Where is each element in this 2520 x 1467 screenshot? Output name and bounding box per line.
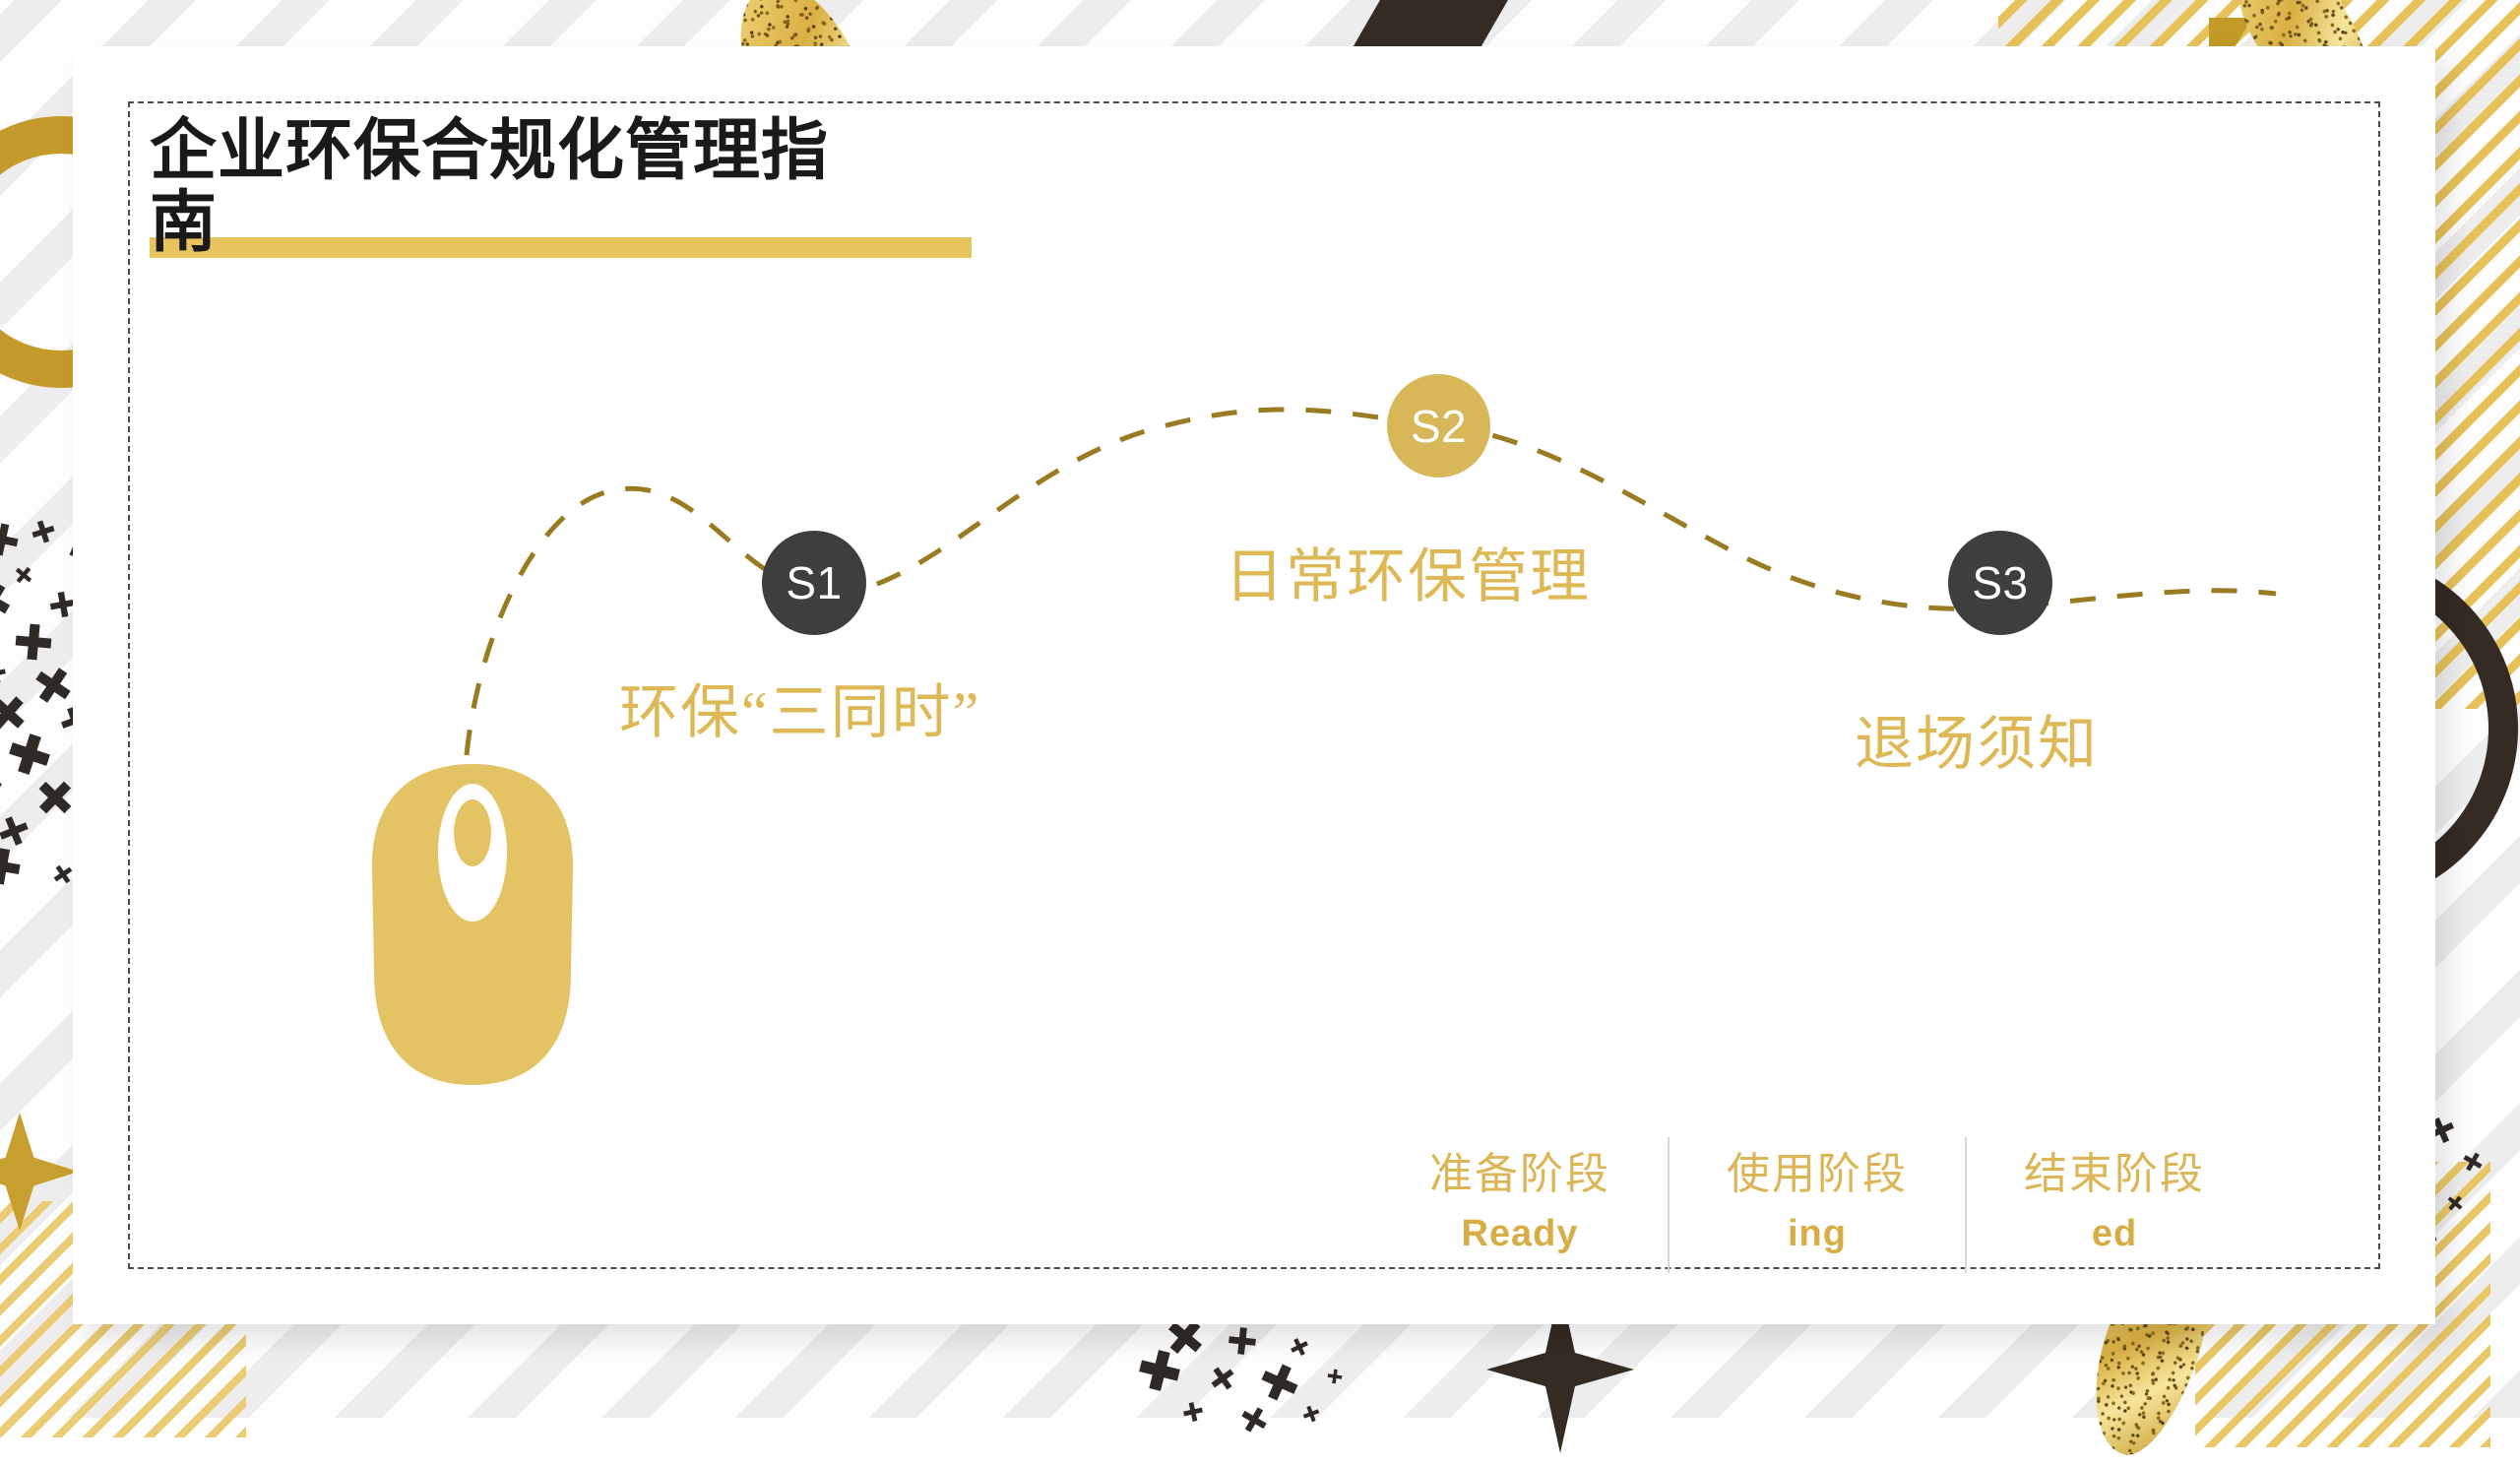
page-title-line-2: 南	[150, 185, 218, 260]
journey-node-s2[interactable]: S2	[1387, 374, 1490, 478]
legend-item-ed-en: ed	[1967, 1213, 2262, 1255]
slide-card: 企业环保合规化管理指 南 S1 环保“三同时” S2 日常环保管理 S3 退场须…	[73, 46, 2435, 1324]
stage-label-s3[interactable]: 退场须知	[1855, 696, 2099, 782]
stage-label-s1[interactable]: 环保“三同时”	[619, 665, 980, 750]
mouse-scroll-wheel	[454, 799, 491, 866]
legend-item-ed-cn: 结束阶段	[1967, 1145, 2262, 1203]
legend-item-ing-cn: 使用阶段	[1669, 1145, 1965, 1203]
journey-node-s3-label: S3	[1972, 556, 2028, 609]
journey-node-s3[interactable]: S3	[1948, 531, 2052, 635]
legend-item-ready[interactable]: 准备阶段 Ready	[1372, 1137, 1668, 1273]
page-title: 企业环保合规化管理指 南	[150, 115, 908, 260]
dashed-content-frame	[128, 101, 2380, 1269]
legend-item-ready-en: Ready	[1372, 1213, 1668, 1255]
page-title-line-1: 企业环保合规化管理指	[150, 113, 829, 188]
legend-item-ing-en: ing	[1669, 1213, 1965, 1255]
stage-label-s2[interactable]: 日常环保管理	[1225, 529, 1591, 614]
journey-node-s1-label: S1	[786, 556, 842, 609]
journey-node-s1[interactable]: S1	[762, 531, 866, 635]
legend-item-ed[interactable]: 结束阶段 ed	[1965, 1137, 2262, 1273]
stage-legend: 准备阶段 Ready 使用阶段 ing 结束阶段 ed	[1372, 1137, 2262, 1273]
journey-node-s2-label: S2	[1411, 400, 1467, 453]
legend-item-ready-cn: 准备阶段	[1372, 1145, 1668, 1203]
title-block: 企业环保合规化管理指 南	[150, 115, 937, 260]
computer-mouse-icon	[368, 762, 577, 1087]
legend-item-ing[interactable]: 使用阶段 ing	[1668, 1137, 1965, 1273]
